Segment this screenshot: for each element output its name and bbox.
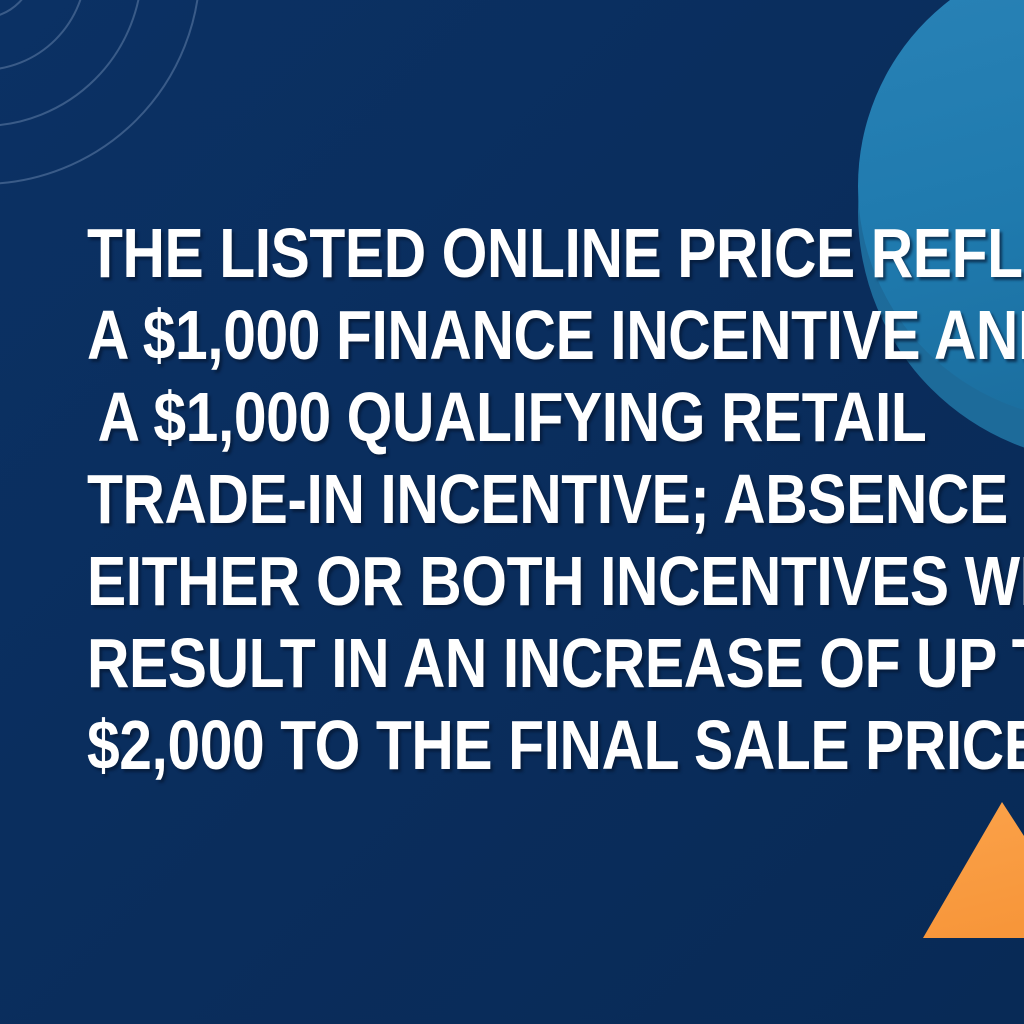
headline-line-6: RESULT IN AN INCREASE OF UP TO	[87, 622, 937, 704]
concentric-arcs-top-left	[0, 0, 200, 184]
headline-line-7: $2,000 TO THE FINAL SALE PRICE.	[87, 704, 937, 786]
headline-line-5: EITHER OR BOTH INCENTIVES WILL	[87, 540, 937, 622]
promo-graphic-canvas: THE LISTED ONLINE PRICE REFLECTS A $1,00…	[0, 0, 1024, 1024]
disclaimer-headline: THE LISTED ONLINE PRICE REFLECTS A $1,00…	[0, 212, 1024, 786]
decorative-triangle-bottom-right	[923, 802, 1024, 938]
headline-line-2: A $1,000 FINANCE INCENTIVE AND	[87, 294, 937, 376]
headline-line-1: THE LISTED ONLINE PRICE REFLECTS	[87, 212, 937, 294]
headline-line-4: TRADE-IN INCENTIVE; ABSENCE OF	[87, 458, 937, 540]
headline-line-3: A $1,000 QUALIFYING RETAIL	[87, 376, 937, 458]
